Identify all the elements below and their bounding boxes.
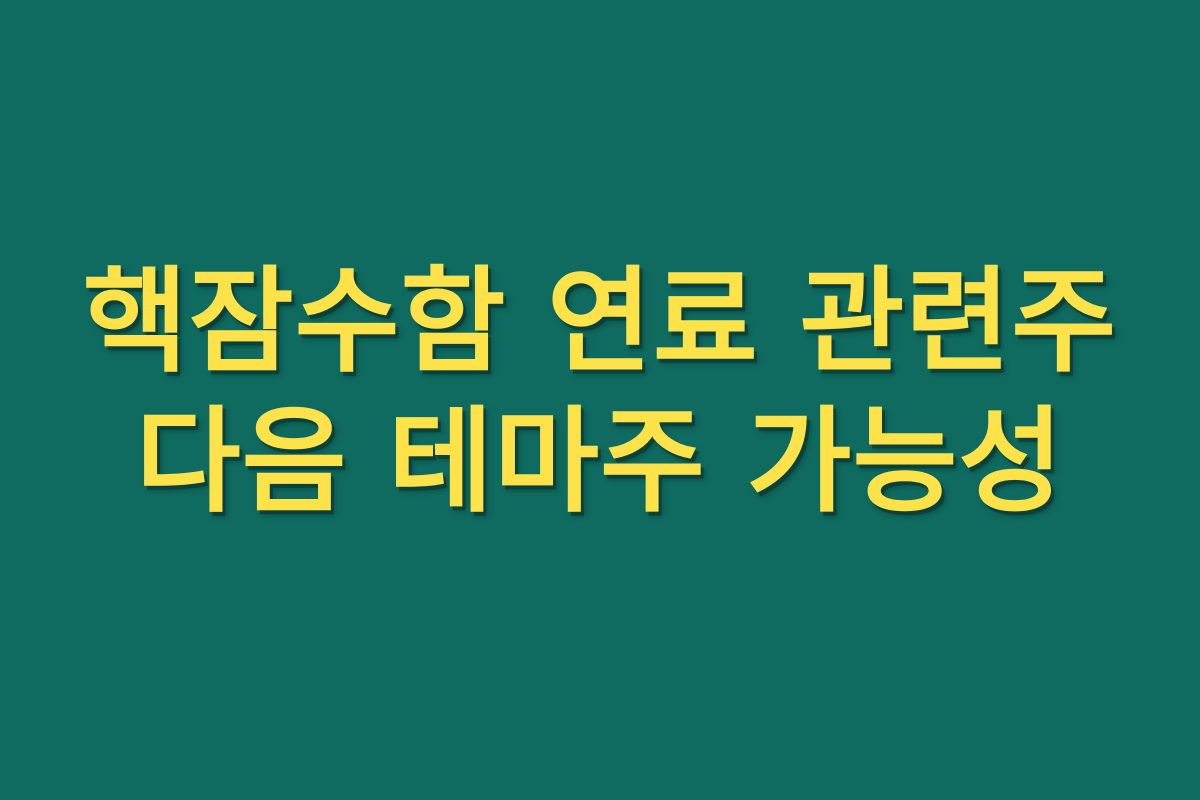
banner-canvas: 핵잠수함 연료 관련주 다음 테마주 가능성: [0, 0, 1200, 800]
headline-line-1: 핵잠수함 연료 관련주: [0, 252, 1200, 392]
headline-line-2: 다음 테마주 가능성: [0, 392, 1200, 532]
headline-block: 핵잠수함 연료 관련주 다음 테마주 가능성: [0, 252, 1200, 532]
